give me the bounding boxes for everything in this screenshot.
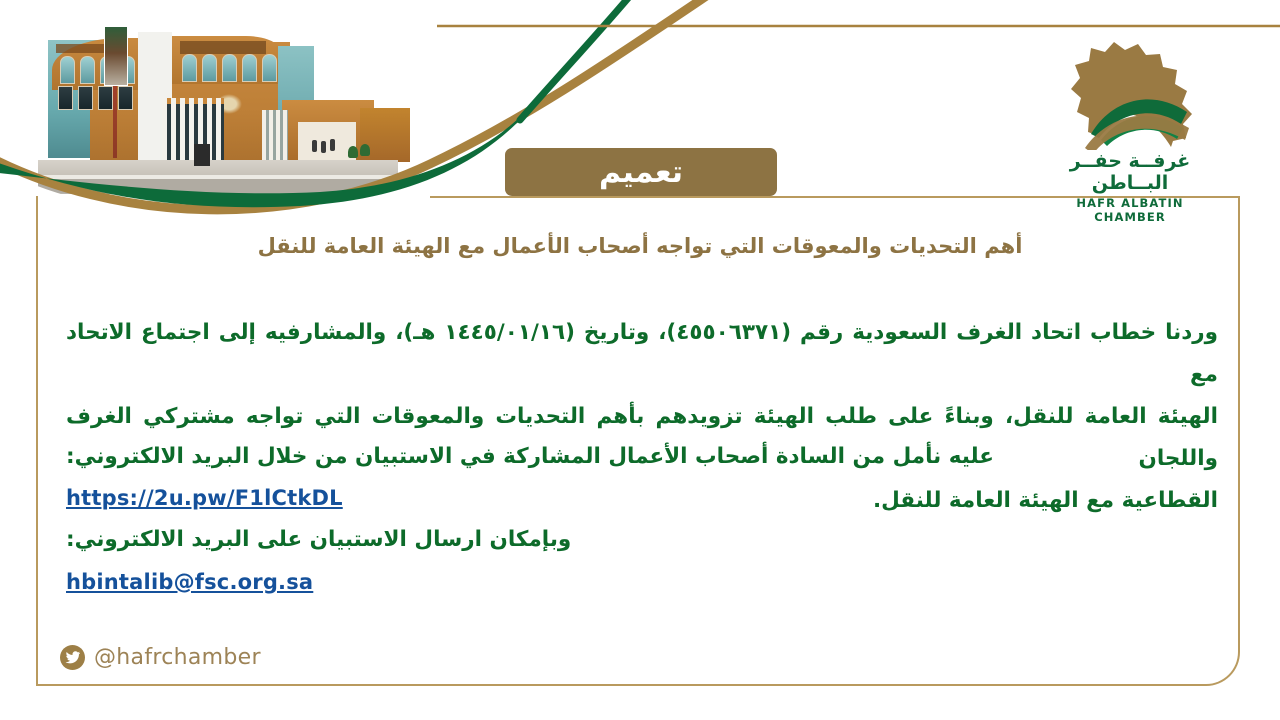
chamber-building-photo bbox=[30, 12, 400, 187]
document-subtitle: أهم التحديات والمعوقات التي تواجه أصحاب … bbox=[60, 234, 1220, 258]
email-instruction-text: وبإمكان ارسال الاستبيان على البريد الالك… bbox=[66, 527, 1218, 552]
survey-instruction-text: عليه نأمل من السادة أصحاب الأعمال المشار… bbox=[66, 444, 1218, 469]
logo-name-arabic: غرفــة حفــر البــاطن bbox=[1040, 151, 1220, 195]
building-sign-right bbox=[180, 41, 266, 54]
window-row-left-dark bbox=[58, 86, 133, 110]
person-figure bbox=[330, 139, 335, 151]
side-pillars bbox=[262, 110, 288, 160]
entrance-pillars bbox=[162, 104, 224, 162]
foreground-object bbox=[194, 144, 210, 166]
survey-link[interactable]: https://2u.pw/F1lCtkDL bbox=[66, 486, 343, 510]
building-sign-left bbox=[56, 44, 104, 53]
person-figure bbox=[312, 140, 317, 152]
body-line-1: وردنا خطاب اتحاد الغرف السعودية رقم (٤٥٥… bbox=[66, 312, 1218, 396]
email-link-row: hbintalib@fsc.org.sa bbox=[66, 570, 1218, 594]
portrait-banner bbox=[104, 26, 128, 86]
circular-title-badge: تعميم bbox=[505, 148, 777, 196]
survey-link-row: https://2u.pw/F1lCtkDL bbox=[66, 486, 1218, 510]
twitter-bird-icon[interactable] bbox=[60, 645, 85, 670]
chamber-logo: غرفــة حفــر البــاطن HAFR ALBATIN CHAMB… bbox=[1040, 38, 1220, 203]
announcement-page: غرفــة حفــر البــاطن HAFR ALBATIN CHAMB… bbox=[0, 0, 1280, 720]
email-link[interactable]: hbintalib@fsc.org.sa bbox=[66, 570, 313, 594]
plant-shrub bbox=[348, 146, 358, 158]
circular-title-text: تعميم bbox=[599, 155, 683, 190]
window-row-right bbox=[182, 54, 277, 82]
frame-top-rule bbox=[430, 196, 1240, 198]
road-strip bbox=[38, 179, 398, 193]
twitter-handle-text[interactable]: @hafrchamber bbox=[94, 645, 261, 670]
chamber-logo-mark-icon bbox=[1055, 38, 1205, 150]
person-figure bbox=[321, 141, 326, 153]
logo-name-english: HAFR ALBATIN CHAMBER bbox=[1040, 196, 1220, 224]
plant-shrub bbox=[360, 144, 370, 156]
twitter-footer[interactable]: @hafrchamber bbox=[60, 645, 261, 670]
